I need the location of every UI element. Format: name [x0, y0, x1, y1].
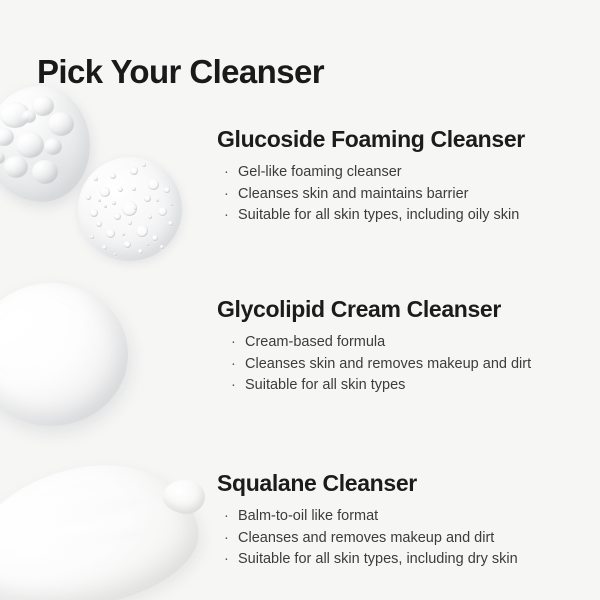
list-item-label: Cleanses and removes makeup and dirt — [238, 530, 494, 546]
foam-bubble-icon — [158, 207, 167, 216]
list-item: · Cleanses skin and maintains barrier — [222, 184, 587, 206]
list-item: · Cleanses and removes makeup and dirt — [222, 528, 587, 550]
product-heading: Squalane Cleanser — [217, 470, 587, 497]
foam-bubble-icon — [170, 203, 173, 206]
bullet-dot-icon: · — [224, 549, 229, 571]
list-item: · Suitable for all skin types — [229, 375, 587, 397]
gel-bubble-icon — [0, 152, 5, 164]
foam-bubble-icon — [118, 187, 123, 192]
gel-bubble-icon — [0, 128, 14, 146]
bullet-dot-icon: · — [224, 184, 229, 206]
foam-bubble-icon — [148, 215, 152, 219]
foam-bubble-icon — [114, 253, 117, 256]
bullet-dot-icon: · — [231, 375, 236, 397]
foam-bubble-icon — [104, 205, 107, 208]
product-section-glycolipid-cream-cleanser: Glycolipid Cream Cleanser · Cream-based … — [217, 296, 587, 397]
foam-bubble-icon — [90, 235, 94, 239]
foam-bubble-icon — [128, 221, 132, 225]
foam-bubble-icon — [144, 195, 151, 202]
list-item-label: Balm-to-oil like format — [238, 508, 378, 524]
balm-ridge-icon — [14, 524, 145, 560]
list-item-label: Suitable for all skin types, including d… — [238, 551, 518, 567]
foam-bubble-icon — [132, 187, 136, 191]
foam-bubble-icon — [152, 235, 158, 241]
balm-ridge-icon — [0, 492, 143, 535]
list-item: · Gel-like foaming cleanser — [222, 162, 587, 184]
product-section-squalane-cleanser: Squalane Cleanser · Balm-to-oil like for… — [217, 470, 587, 571]
foam-bubble-icon — [148, 179, 159, 190]
foam-bubble-icon — [136, 225, 148, 237]
list-item: · Balm-to-oil like format — [222, 506, 587, 528]
foam-bubble-icon — [164, 187, 170, 193]
gel-bubble-icon — [48, 112, 74, 136]
white-balm-smear-texture — [0, 451, 207, 600]
product-heading: Glycolipid Cream Cleanser — [217, 296, 587, 323]
gel-bubble-icon — [44, 138, 62, 155]
list-item: · Cream-based formula — [229, 332, 587, 354]
cream-highlight-icon — [0, 302, 46, 355]
list-item: · Cleanses skin and removes makeup and d… — [229, 354, 587, 376]
bullet-dot-icon: · — [224, 506, 229, 528]
clear-gel-blob-texture — [0, 86, 90, 202]
foam-bubble-icon — [124, 241, 131, 248]
foam-bubble-icon — [168, 221, 173, 226]
foam-bubble-icon — [86, 195, 91, 200]
list-item-label: Cleanses skin and maintains barrier — [238, 186, 469, 202]
foam-bubble-icon — [160, 245, 164, 249]
foam-bubble-icon — [102, 245, 107, 250]
list-item: · Suitable for all skin types, including… — [222, 549, 587, 571]
foam-bubble-icon — [130, 167, 138, 175]
gel-bubble-icon — [4, 156, 28, 178]
list-item-label: Suitable for all skin types — [245, 377, 405, 393]
white-foam-disc-texture — [78, 157, 182, 261]
balm-tip-icon — [161, 476, 208, 516]
list-item-label: Suitable for all skin types, including o… — [238, 207, 519, 223]
bullet-dot-icon: · — [224, 162, 229, 184]
foam-bubble-icon — [98, 199, 101, 202]
gel-bubble-icon — [22, 110, 36, 123]
foam-bubble-icon — [114, 213, 121, 220]
bullet-dot-icon: · — [231, 332, 236, 354]
product-feature-list: · Gel-like foaming cleanser · Cleanses s… — [217, 162, 587, 227]
foam-bubble-icon — [138, 249, 143, 254]
product-feature-list: · Cream-based formula · Cleanses skin an… — [217, 332, 587, 397]
foam-bubble-icon — [96, 221, 102, 227]
product-feature-list: · Balm-to-oil like format · Cleanses and… — [217, 506, 587, 571]
foam-bubble-icon — [94, 177, 98, 181]
list-item-label: Cream-based formula — [245, 334, 385, 350]
page-title: Pick Your Cleanser — [37, 53, 324, 91]
foam-bubble-icon — [90, 209, 98, 217]
bullet-dot-icon: · — [224, 205, 229, 227]
bullet-dot-icon: · — [224, 528, 229, 550]
gel-bubble-icon — [32, 160, 58, 184]
foam-bubble-icon — [122, 233, 125, 236]
foam-bubble-icon — [134, 207, 137, 210]
foam-bubble-icon — [100, 187, 110, 197]
list-item-label: Gel-like foaming cleanser — [238, 164, 402, 180]
foam-bubble-icon — [112, 201, 116, 205]
white-cream-sphere-texture — [0, 283, 128, 426]
product-heading: Glucoside Foaming Cleanser — [217, 126, 587, 153]
bullet-dot-icon: · — [231, 354, 236, 376]
foam-bubble-icon — [122, 201, 137, 216]
list-item: · Suitable for all skin types, including… — [222, 205, 587, 227]
foam-bubble-icon — [110, 173, 116, 179]
list-item-label: Cleanses skin and removes makeup and dir… — [245, 356, 531, 372]
foam-bubble-icon — [156, 199, 159, 202]
cleanser-comparison-poster: Pick Your Cleanser Glucoside Foaming Cle… — [0, 0, 600, 600]
product-section-glucoside-foaming-cleanser: Glucoside Foaming Cleanser · Gel-like fo… — [217, 126, 587, 227]
foam-bubble-icon — [146, 243, 149, 246]
gel-bubble-icon — [16, 132, 44, 158]
gel-bubble-icon — [0, 102, 30, 128]
foam-bubble-icon — [106, 229, 115, 238]
gel-bubble-icon — [32, 96, 54, 116]
foam-bubble-icon — [142, 163, 146, 167]
